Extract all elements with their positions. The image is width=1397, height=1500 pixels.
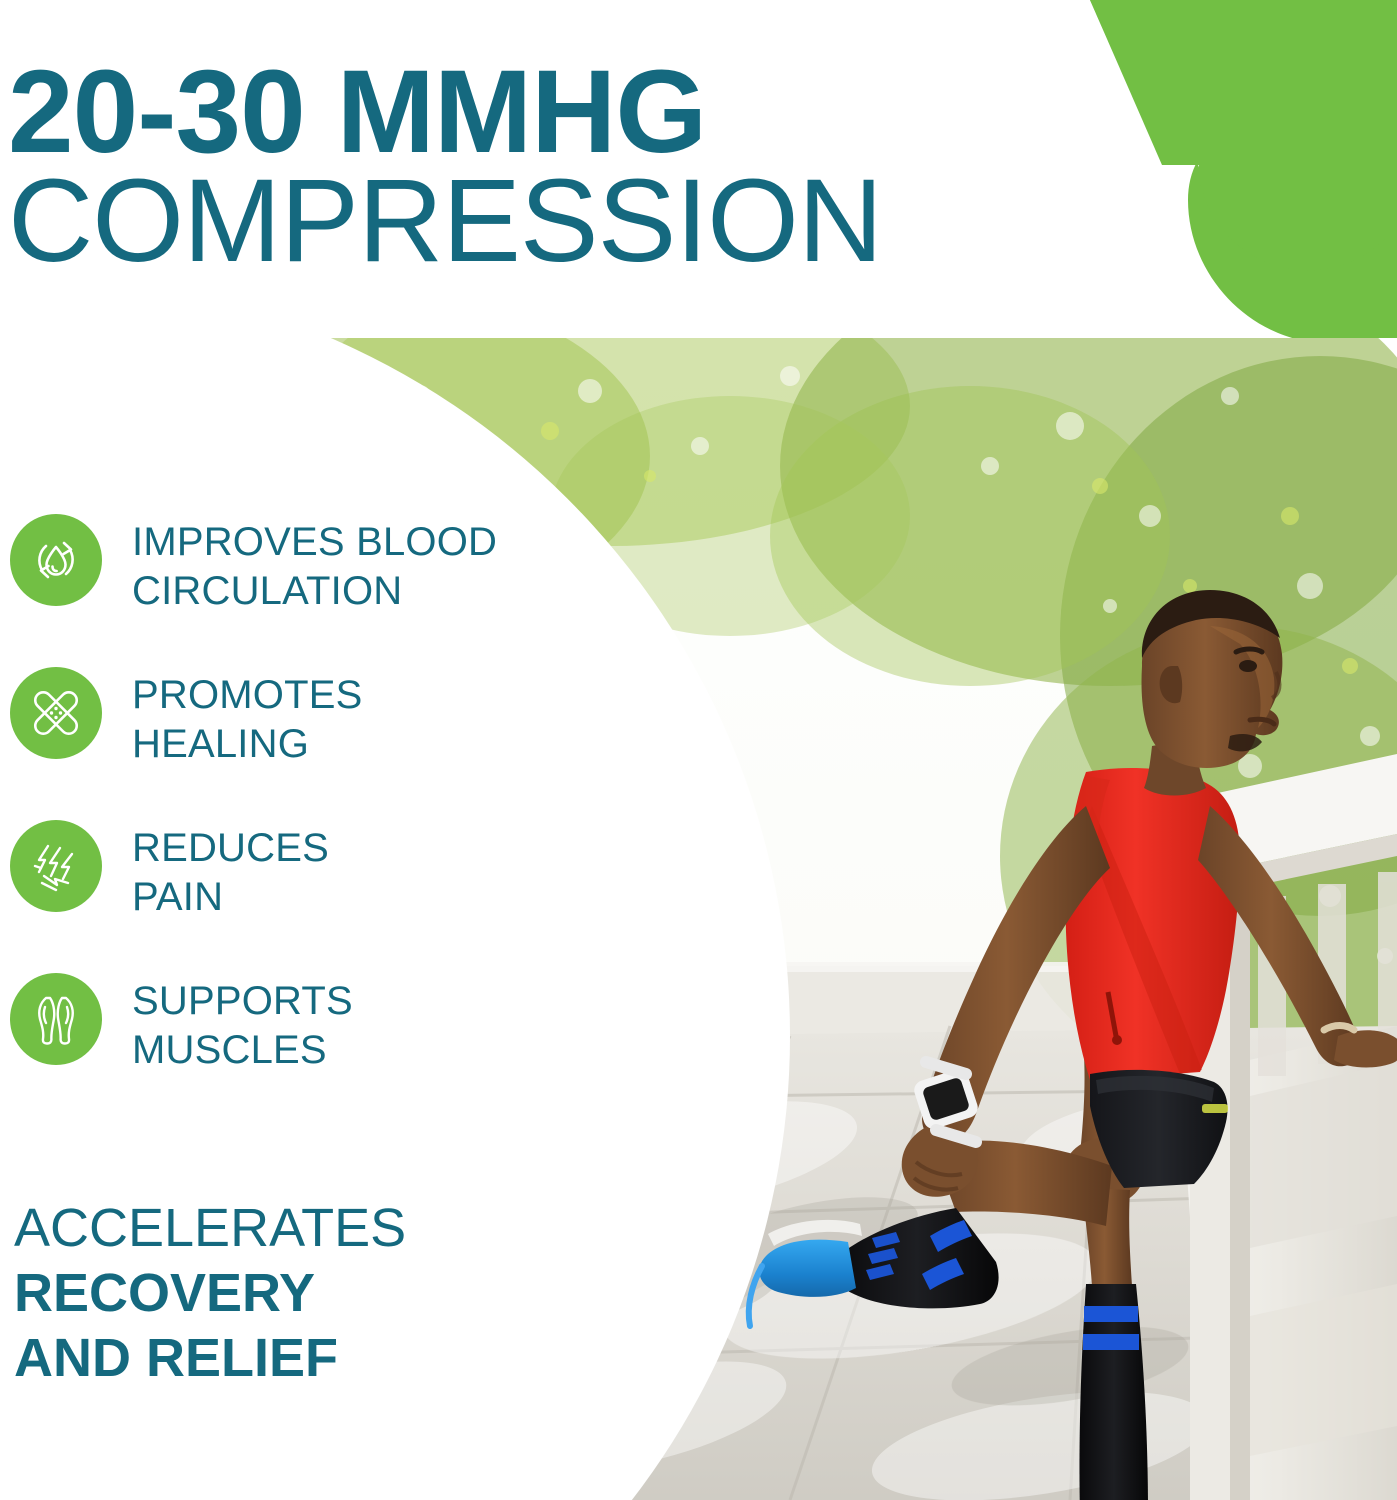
product-infographic: 20-30 MMHG COMPRESSION IMPRO <box>0 0 1397 1500</box>
benefit-item-muscles: SUPPORTS MUSCLES <box>10 971 570 1067</box>
benefit-label-healing: PROMOTES HEALING <box>132 665 363 769</box>
blood-circulation-icon <box>10 514 102 606</box>
benefit-label-line-2: HEALING <box>132 720 363 769</box>
benefit-item-pain: REDUCES PAIN <box>10 818 570 914</box>
benefit-item-healing: PROMOTES HEALING <box>10 665 570 761</box>
headline-line-1: 20-30 MMHG <box>8 58 968 167</box>
benefit-label-muscles: SUPPORTS MUSCLES <box>132 971 353 1075</box>
tagline-line-3: AND RELIEF <box>14 1326 574 1391</box>
benefit-label-line-1: REDUCES <box>132 824 329 873</box>
benefit-label-line-1: PROMOTES <box>132 671 363 720</box>
bandage-healing-icon <box>10 667 102 759</box>
benefit-label-line-1: IMPROVES BLOOD <box>132 518 497 567</box>
tagline: ACCELERATES RECOVERY AND RELIEF <box>14 1196 574 1390</box>
benefit-item-circulation: IMPROVES BLOOD CIRCULATION <box>10 512 570 608</box>
benefit-label-pain: REDUCES PAIN <box>132 818 329 922</box>
benefit-label-line-2: MUSCLES <box>132 1026 353 1075</box>
tagline-line-1: ACCELERATES <box>14 1196 574 1261</box>
benefit-label-line-1: SUPPORTS <box>132 977 353 1026</box>
page-title: 20-30 MMHG COMPRESSION <box>8 58 968 275</box>
benefit-label-line-2: CIRCULATION <box>132 567 497 616</box>
benefit-label-circulation: IMPROVES BLOOD CIRCULATION <box>132 512 497 616</box>
lightning-pain-icon <box>10 820 102 912</box>
green-decorative-shape <box>1070 0 1397 340</box>
headline-line-2: COMPRESSION <box>8 167 968 276</box>
benefit-label-line-2: PAIN <box>132 873 329 922</box>
tagline-line-2: RECOVERY <box>14 1261 574 1326</box>
legs-muscles-icon <box>10 973 102 1065</box>
benefits-list: IMPROVES BLOOD CIRCULATION <box>10 512 570 1067</box>
